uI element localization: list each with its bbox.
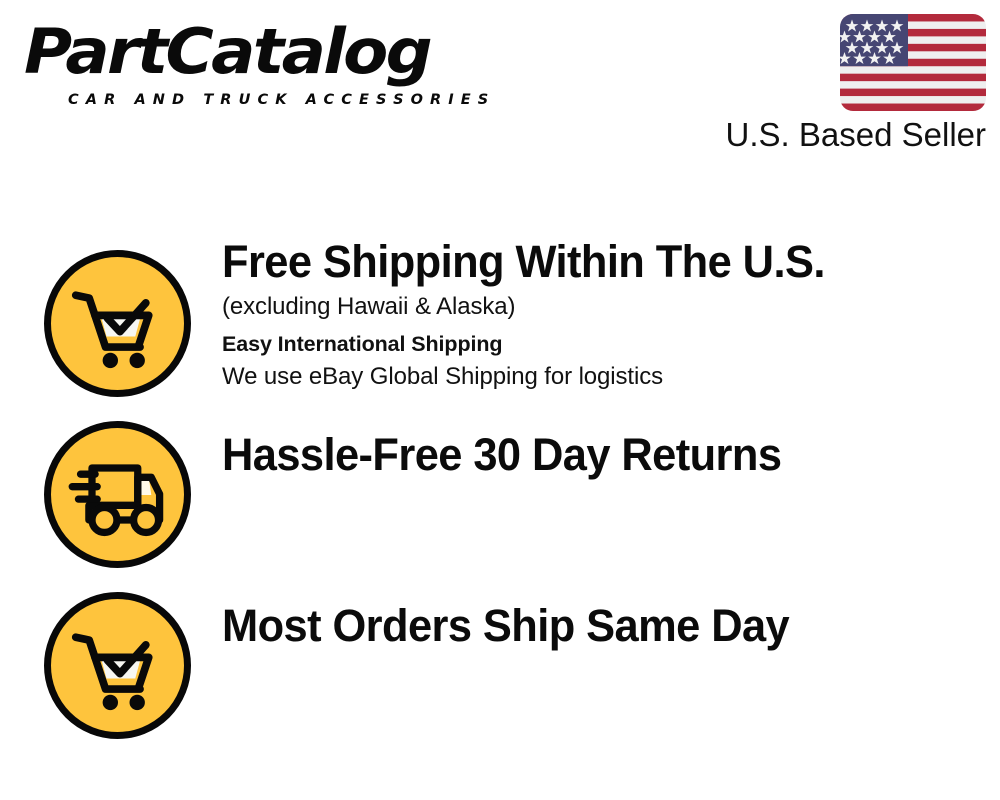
- shopping-cart-check-icon: [44, 250, 191, 397]
- feature-row: Most Orders Ship Same Day: [0, 570, 1000, 742]
- feature-text-block: Most Orders Ship Same Day: [222, 598, 984, 654]
- feature-row: Free Shipping Within The U.S. (excluding…: [0, 228, 1000, 400]
- feature-subtitle: Easy International Shipping: [222, 328, 984, 360]
- shopping-cart-check-icon: [44, 592, 191, 739]
- banner-header: PartCatalog CAR AND TRUCK ACCESSORIES: [0, 0, 1000, 170]
- feature-title: Free Shipping Within The U.S.: [222, 234, 957, 290]
- partcatalog-logo: PartCatalog CAR AND TRUCK ACCESSORIES: [24, 18, 494, 113]
- feature-note: (excluding Hawaii & Alaska): [222, 290, 984, 323]
- feature-title: Hassle-Free 30 Day Returns: [222, 427, 957, 483]
- delivery-truck-icon: [44, 421, 191, 568]
- feature-text-block: Hassle-Free 30 Day Returns: [222, 427, 984, 483]
- brand-tagline: CAR AND TRUCK ACCESSORIES: [68, 91, 495, 109]
- feature-text-block: Free Shipping Within The U.S. (excluding…: [222, 234, 984, 393]
- us-based-seller-label: U.S. Based Seller: [726, 115, 986, 155]
- feature-title: Most Orders Ship Same Day: [222, 598, 957, 654]
- feature-row: Hassle-Free 30 Day Returns: [0, 399, 1000, 571]
- us-flag-icon: [840, 14, 986, 111]
- feature-subtext: We use eBay Global Shipping for logistic…: [222, 360, 984, 393]
- brand-wordmark: PartCatalog: [24, 18, 430, 86]
